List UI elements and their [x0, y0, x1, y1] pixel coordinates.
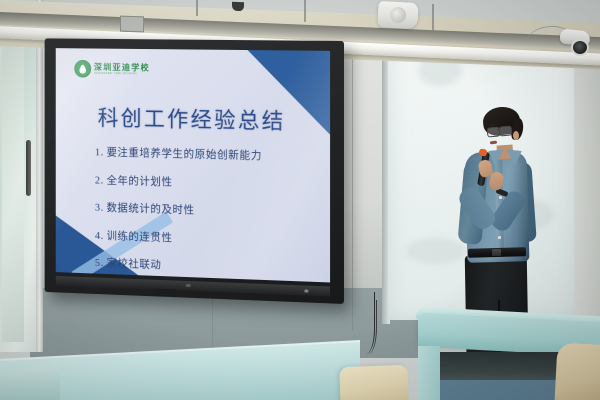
- left-side-desk[interactable]: [0, 366, 60, 400]
- list-item: 2.全年的计划性: [95, 171, 312, 192]
- list-item: 5.家校社联动: [95, 254, 312, 278]
- door-handle[interactable]: [26, 140, 31, 196]
- list-item-label: 要注重培养学生的原始创新能力: [107, 147, 262, 162]
- display-cable: [360, 300, 377, 354]
- beige-chair-front[interactable]: [339, 365, 408, 400]
- glass-door-pane: [2, 22, 24, 342]
- ceiling-sensor-icon: [232, 2, 244, 11]
- wall-seam: [352, 40, 353, 330]
- display-power-led-icon: [304, 289, 308, 292]
- slide-title: 科创工作经验总结: [56, 100, 330, 136]
- whiteboard-smudge: [406, 238, 466, 264]
- slide-bullet-list: 1.要注重培养学生的原始创新能力 2.全年的计划性 3.数据统计的及时性 4.训…: [95, 144, 312, 283]
- right-wall-strip: [574, 34, 600, 334]
- ceiling-rod: [196, 0, 198, 16]
- ceiling-rod: [432, 4, 434, 30]
- presenter-ear: [513, 131, 519, 140]
- list-item-label: 数据统计的及时性: [107, 202, 195, 216]
- belt-buckle-icon: [492, 249, 501, 256]
- list-item-number: 2.: [95, 174, 104, 186]
- list-item-label: 全年的计划性: [107, 174, 173, 187]
- shirt-button: [499, 196, 502, 199]
- interactive-display[interactable]: 深圳亚迪学校 SHENZHEN YADI SCHOOL 科创工作经验总结 1.要…: [45, 38, 344, 304]
- ceiling-rod: [304, 0, 306, 22]
- list-item: 4.训练的连贯性: [95, 227, 312, 250]
- list-item-number: 1.: [95, 146, 104, 158]
- list-item-number: 5.: [95, 257, 104, 269]
- display-ir-sensor-icon: [155, 289, 176, 297]
- list-item-number: 4.: [95, 229, 104, 241]
- speaker-cone-icon: [390, 7, 406, 23]
- list-item-label: 训练的连贯性: [107, 230, 173, 244]
- school-logo: 深圳亚迪学校 SHENZHEN YADI SCHOOL: [74, 60, 150, 78]
- presentation-slide: 深圳亚迪学校 SHENZHEN YADI SCHOOL 科创工作经验总结 1.要…: [56, 48, 330, 282]
- wall-seam: [212, 290, 213, 356]
- display-brand-mark: [186, 284, 191, 287]
- glasses-bridge-icon: [497, 129, 500, 130]
- glasses-lens-right-icon: [499, 125, 513, 136]
- classroom-scene: 深圳亚迪学校 SHENZHEN YADI SCHOOL 科创工作经验总结 1.要…: [0, 0, 600, 400]
- ceiling-junction-box: [120, 16, 144, 33]
- beige-chair-right[interactable]: [554, 343, 600, 400]
- list-item: 3.数据统计的及时性: [95, 199, 312, 221]
- teal-desk-leg: [418, 346, 440, 400]
- teal-desk-cavity-floor: [440, 380, 568, 400]
- camera-lens-icon: [571, 39, 589, 56]
- shirt-button: [498, 236, 501, 239]
- list-item-label: 家校社联动: [107, 257, 162, 271]
- school-crest-icon: [74, 60, 91, 78]
- display-screen[interactable]: 深圳亚迪学校 SHENZHEN YADI SCHOOL 科创工作经验总结 1.要…: [56, 48, 330, 282]
- door-frame: [36, 0, 43, 352]
- list-item-number: 3.: [95, 202, 104, 214]
- list-item: 1.要注重培养学生的原始创新能力: [95, 144, 312, 165]
